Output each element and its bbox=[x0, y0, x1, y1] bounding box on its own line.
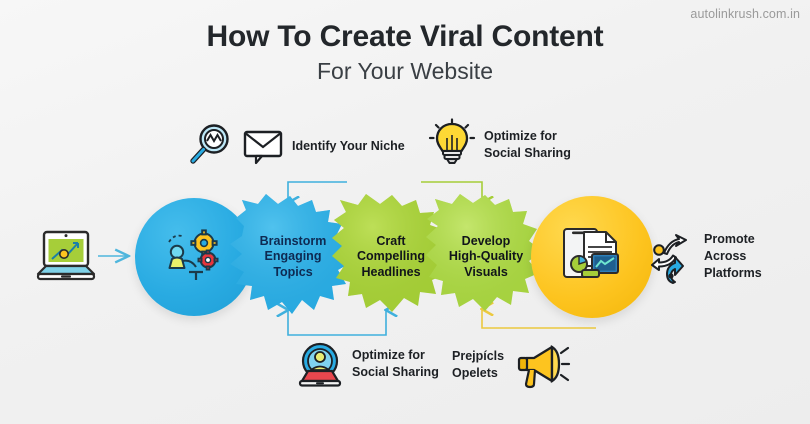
callout-optimize-social-top-label: Optimize for Social Sharing bbox=[484, 128, 571, 162]
callout-identify-niche-label: Identify Your Niche bbox=[292, 138, 405, 155]
megaphone-icon bbox=[512, 341, 570, 389]
envelope-icon bbox=[242, 126, 284, 166]
document-chart-icon bbox=[560, 226, 624, 288]
laptop-icon bbox=[34, 228, 98, 286]
node-circle-content-icon[interactable] bbox=[531, 196, 653, 318]
arrows-share-icon bbox=[648, 231, 696, 287]
person-laptop-icon bbox=[296, 340, 344, 388]
lightbulb-icon bbox=[428, 118, 476, 172]
gears-person-icon bbox=[163, 226, 225, 288]
callout-prejpicls-opelets[interactable]: Prejpícls Opelets bbox=[452, 341, 570, 389]
infographic-canvas: autolinkrush.com.in How To Create Viral … bbox=[0, 0, 810, 424]
callout-identify-niche[interactable]: Identify Your Niche bbox=[186, 122, 405, 170]
callout-optimize-social-bottom[interactable]: Optimize for Social Sharing bbox=[296, 340, 439, 388]
node-blob-visuals[interactable]: Develop High-Quality Visuals bbox=[424, 192, 548, 322]
callout-optimize-social-top[interactable]: Optimize for Social Sharing bbox=[428, 118, 571, 172]
callout-optimize-social-bottom-label: Optimize for Social Sharing bbox=[352, 347, 439, 381]
callout-promote-across-platforms-label: Promote Across Platforms bbox=[704, 231, 762, 282]
magnifier-chart-icon bbox=[186, 122, 234, 170]
callout-promote-across-platforms[interactable]: Promote Across Platforms bbox=[648, 231, 762, 287]
node-blob-visuals-label: Develop High-Quality Visuals bbox=[424, 234, 548, 280]
callout-prejpicls-opelets-label: Prejpícls Opelets bbox=[452, 348, 504, 382]
